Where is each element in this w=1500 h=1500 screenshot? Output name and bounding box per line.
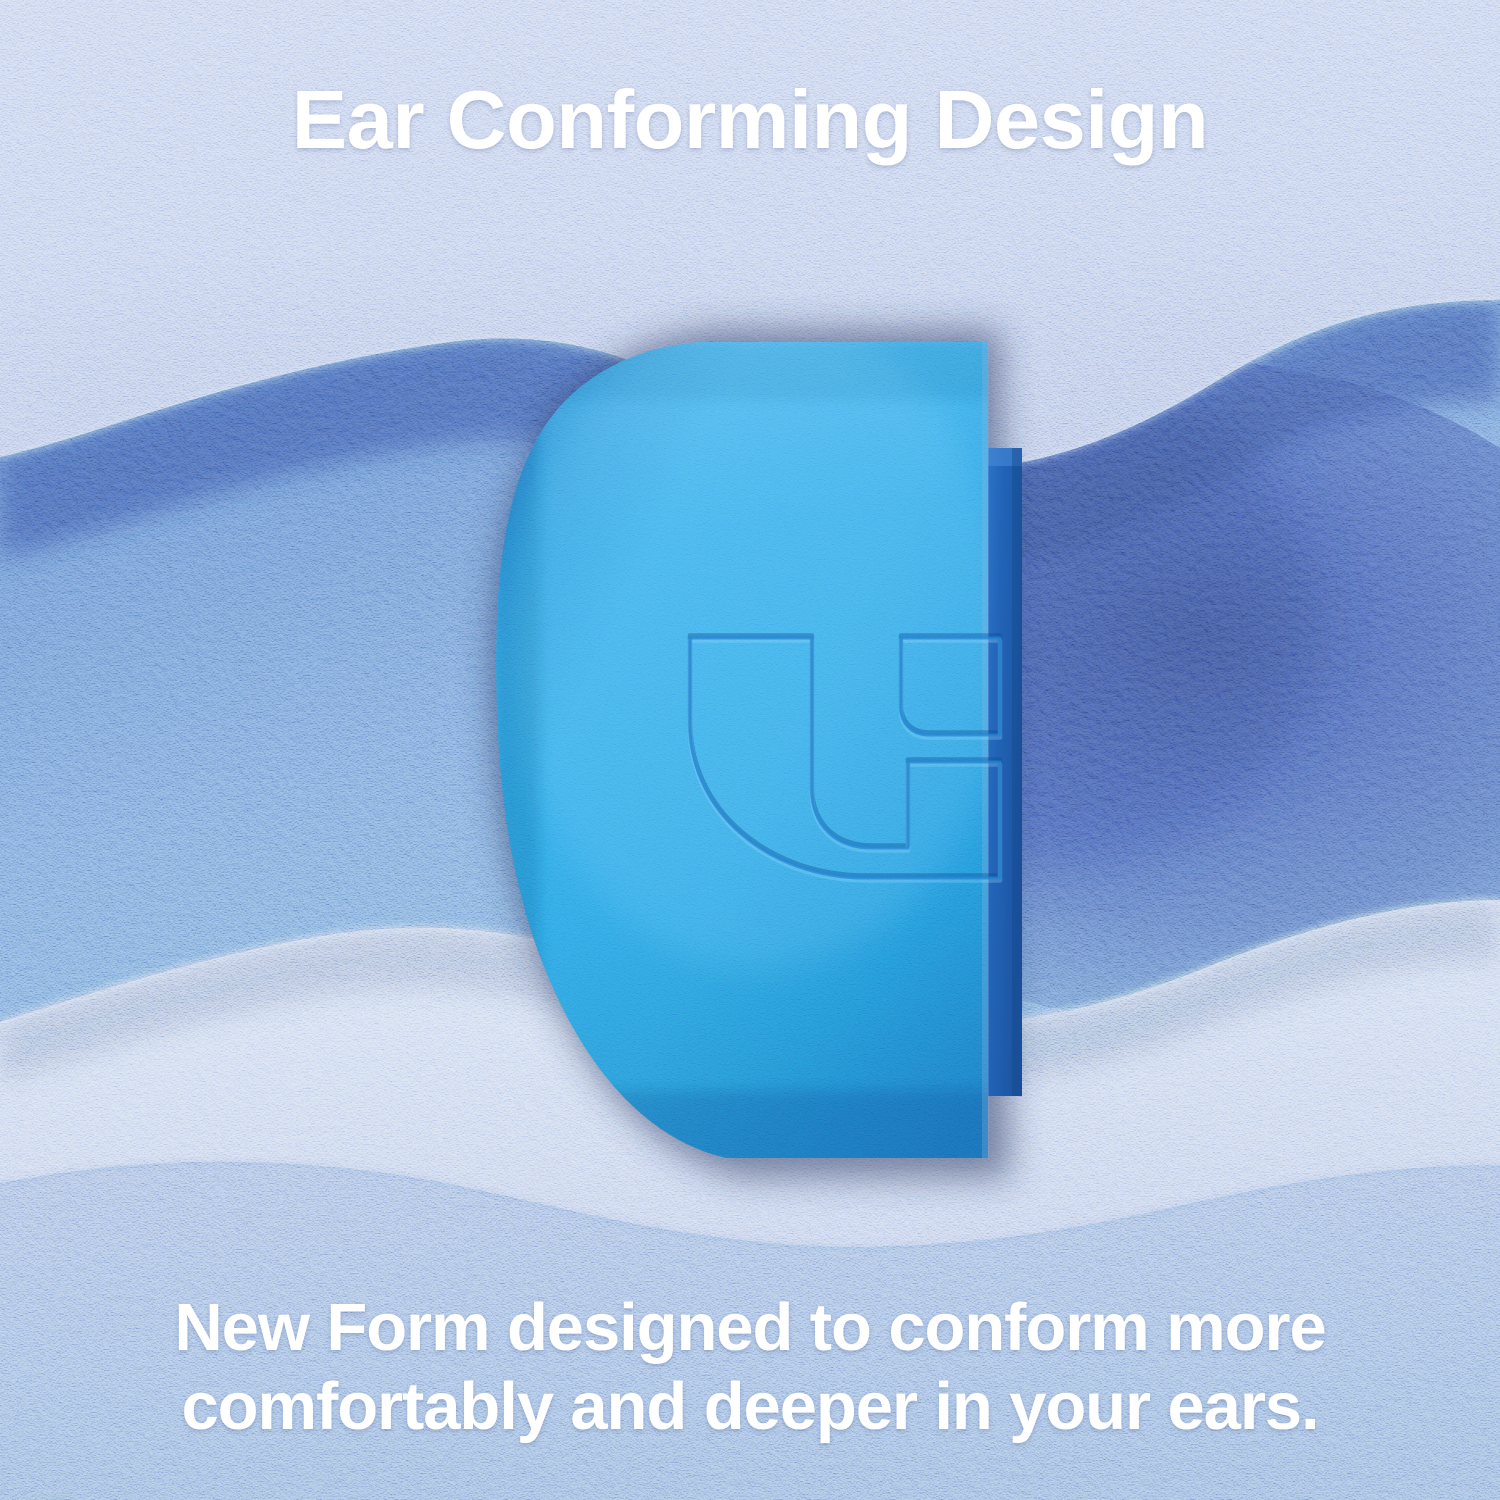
caption-line-2: comfortably and deeper in your ears. xyxy=(90,1367,1410,1446)
caption-text: New Form designed to conform more comfor… xyxy=(90,1288,1410,1446)
earbud-body xyxy=(480,310,1020,1180)
page-title: Ear Conforming Design xyxy=(0,78,1500,163)
caption-line-1: New Form designed to conform more xyxy=(90,1288,1410,1367)
earbud-product xyxy=(0,0,1500,1500)
product-feature-image: Ear Conforming Design New Form designed … xyxy=(0,0,1500,1500)
